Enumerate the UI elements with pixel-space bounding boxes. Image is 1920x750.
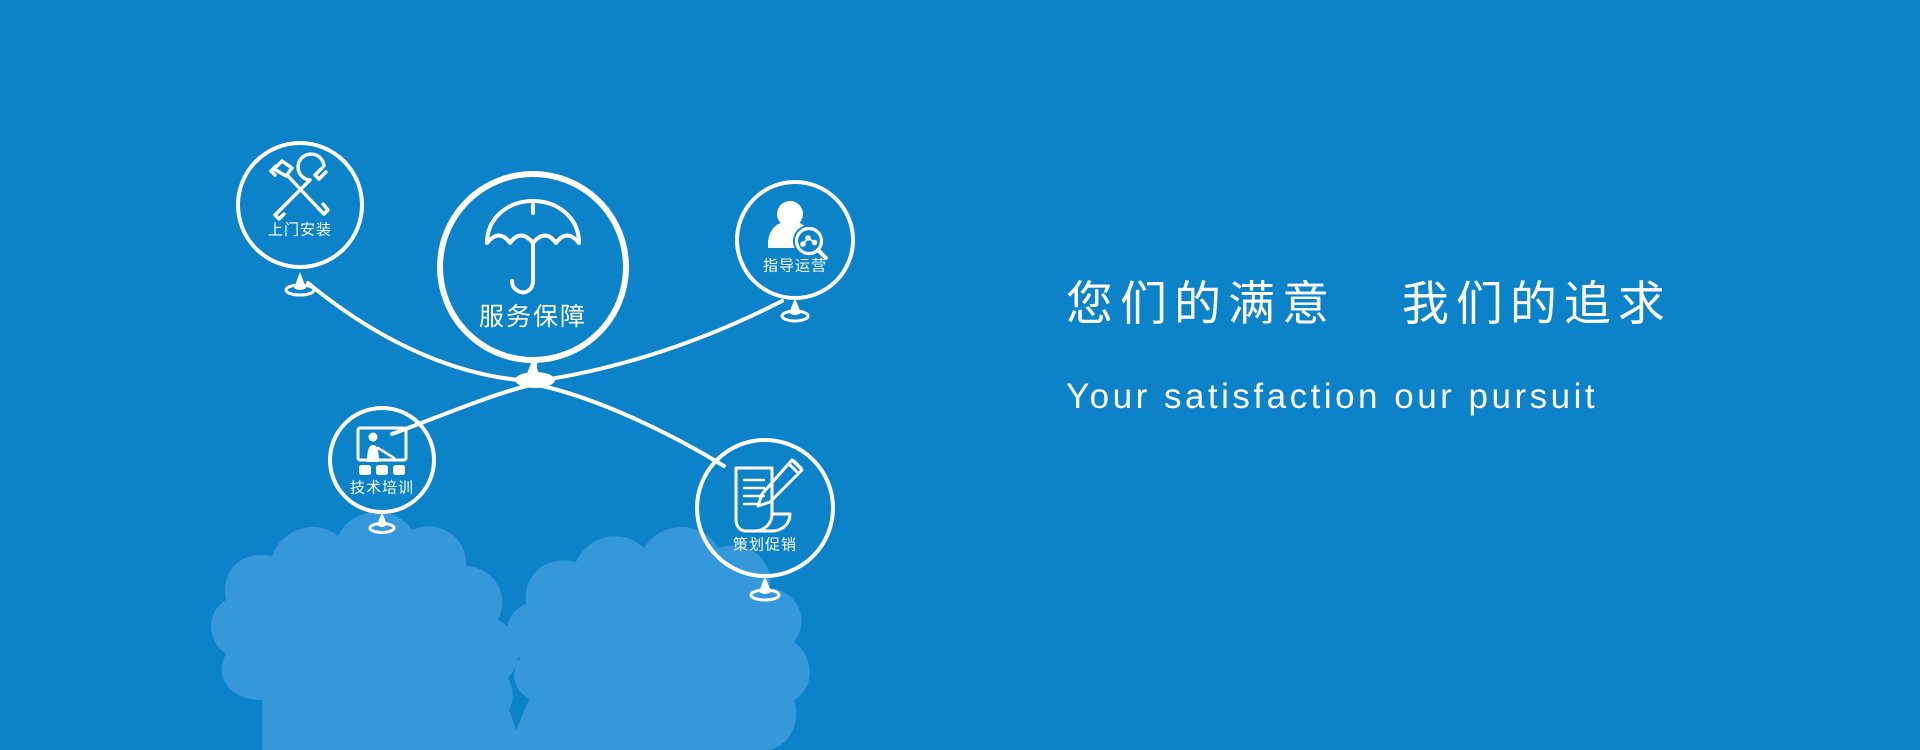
banner-subheadline: Your satisfaction our pursuit	[1066, 332, 1826, 417]
balloon-label-technical-training: 技术培训	[350, 479, 414, 497]
string-to-promotion-planning	[538, 385, 724, 466]
balloon-node-operations-guidance[interactable]: 指导运营	[737, 182, 853, 321]
classroom-training-icon	[358, 428, 406, 475]
balloon-node-service-guarantee[interactable]: 服务保障	[440, 174, 626, 378]
balloon-label-operations-guidance: 指导运营	[763, 257, 827, 275]
balloon-label-installation: 上门安装	[268, 221, 332, 239]
hammer-wrench-icon	[271, 154, 328, 219]
user-analytics-icon	[768, 201, 826, 258]
service-promise-banner: 上门安装 服务保障	[0, 0, 1920, 750]
balloon-knot	[782, 311, 808, 321]
balloon-node-technical-training[interactable]: 技术培训	[330, 408, 434, 533]
foliage-silhouette-right	[507, 527, 810, 750]
document-pencil-icon	[736, 460, 802, 531]
balloon-label-service-guarantee: 服务保障	[479, 302, 587, 331]
foliage-silhouette-left	[211, 512, 522, 750]
string-to-installation	[308, 283, 533, 381]
balloon-neck	[294, 272, 306, 290]
balloon-label-promotion-planning: 策划促销	[733, 536, 797, 554]
balloon-node-installation[interactable]: 上门安装	[238, 143, 362, 295]
balloon-outline	[697, 440, 833, 576]
banner-headline: 您们的满意 我们的追求	[1066, 278, 1826, 332]
banner-copy: 您们的满意 我们的追求 Your satisfaction our pursui…	[1066, 278, 1826, 417]
umbrella-icon	[487, 201, 579, 292]
string-to-technical-training	[392, 385, 531, 434]
